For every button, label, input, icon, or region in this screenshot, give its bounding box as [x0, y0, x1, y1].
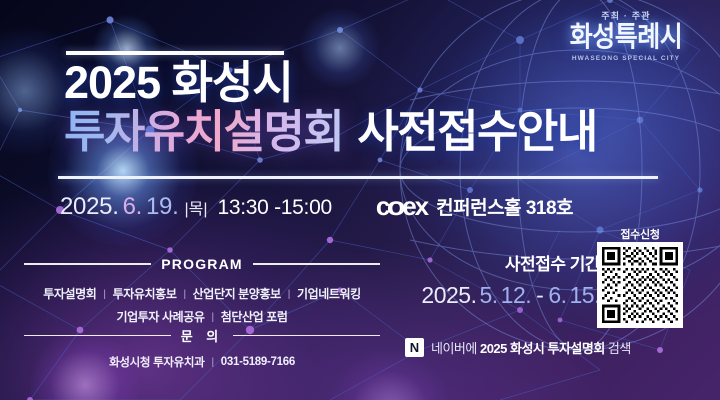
- contact-department: 화성시청 투자유치과: [109, 354, 204, 370]
- program-items-row-1: 투자설명회 | 투자유치홍보 | 산업단지 분양홍보 | 기업네트워킹: [24, 283, 380, 306]
- contact-heading: 문 의: [24, 326, 380, 345]
- contact-rule-right: [233, 335, 380, 337]
- registration-section: 사전접수 기간 2025. 5. 12. - 6. 15.: [392, 250, 600, 309]
- program-separator: |: [183, 285, 185, 305]
- program-section: PROGRAM 투자설명회 | 투자유치홍보 | 산업단지 분양홍보 | 기업네…: [24, 256, 380, 330]
- event-date: 2025. 6. 19. |목| 13:30 -15:00: [60, 193, 332, 221]
- naver-logo-icon: N: [405, 338, 424, 357]
- registration-end-day: 15.: [570, 282, 600, 309]
- naver-keyword: 2025 화성시 투자설명회: [480, 341, 605, 356]
- naver-suffix: 검색: [608, 341, 631, 356]
- program-title: PROGRAM: [161, 256, 243, 272]
- naver-prefix: 네이버에: [431, 341, 477, 356]
- event-time: 13:30 -15:00: [218, 196, 332, 220]
- program-item: 투자유치홍보: [113, 283, 177, 306]
- city-logo-wordmark: 화성특례시: [550, 24, 702, 52]
- city-logo-english: HWASEONG SPECIAL CITY: [550, 55, 702, 62]
- event-poster: 주최 · 주관 화성특례시 HWASEONG SPECIAL CITY 2025…: [0, 0, 720, 400]
- qr-code-icon[interactable]: [597, 242, 683, 328]
- event-month: 6.: [123, 193, 142, 221]
- program-separator: |: [103, 285, 105, 305]
- program-heading: PROGRAM: [24, 256, 380, 272]
- event-year: 2025.: [60, 193, 119, 221]
- contact-details: 화성시청 투자유치과 | 031-5189-7166: [24, 354, 380, 370]
- registration-end-month: 6.: [548, 282, 566, 309]
- host-brand-block: 주최 · 주관 화성특례시 HWASEONG SPECIAL CITY: [550, 9, 702, 62]
- program-rule-left: [24, 263, 151, 265]
- venue-hall: 컨퍼런스홀 318호: [436, 193, 573, 220]
- program-item: 산업단지 분양홍보: [193, 283, 281, 306]
- host-label: 주최 · 주관: [550, 9, 702, 22]
- contact-title: 문 의: [181, 326, 224, 345]
- coex-logo: coex: [376, 191, 427, 222]
- event-day: 19.: [146, 193, 178, 221]
- registration-start-day: 12.: [501, 282, 531, 309]
- registration-period: 2025. 5. 12. - 6. 15.: [392, 282, 600, 309]
- contact-section: 문 의 화성시청 투자유치과 | 031-5189-7166: [24, 326, 380, 370]
- qr-code-label: 접수신청: [597, 226, 683, 242]
- naver-search-text: 네이버에 2025 화성시 투자설명회 검색: [431, 338, 631, 357]
- program-item: 투자설명회: [43, 283, 96, 306]
- naver-search-prompt[interactable]: N 네이버에 2025 화성시 투자설명회 검색: [405, 338, 631, 357]
- event-day-of-week: |목|: [184, 195, 207, 219]
- program-separator: |: [212, 308, 214, 328]
- registration-start-month: 5.: [479, 282, 497, 309]
- headline-bottom-rule: [58, 176, 658, 179]
- registration-start-year: 2025.: [421, 282, 476, 309]
- headline-line-2-gradient: 투자유치설명회: [64, 108, 343, 156]
- headline-block: 2025 화성시 투자유치설명회 사전접수안내: [64, 60, 597, 155]
- headline-line-2-white: 사전접수안내: [357, 108, 596, 156]
- registration-title: 사전접수 기간: [392, 250, 600, 275]
- event-info-row: 2025. 6. 19. |목| 13:30 -15:00 coex 컨퍼런스홀…: [60, 191, 660, 222]
- event-venue: coex 컨퍼런스홀 318호: [376, 191, 573, 222]
- qr-code-block[interactable]: [597, 242, 683, 328]
- contact-separator: |: [211, 357, 213, 368]
- program-item: 기업네트워킹: [297, 283, 361, 306]
- registration-range-dash: -: [536, 282, 543, 309]
- program-rule-right: [253, 263, 380, 265]
- program-separator: |: [288, 285, 290, 305]
- headline-line-1: 2025 화성시: [64, 60, 597, 107]
- contact-phone: 031-5189-7166: [221, 356, 295, 368]
- headline-top-rule: [66, 51, 284, 55]
- contact-rule-left: [24, 335, 171, 337]
